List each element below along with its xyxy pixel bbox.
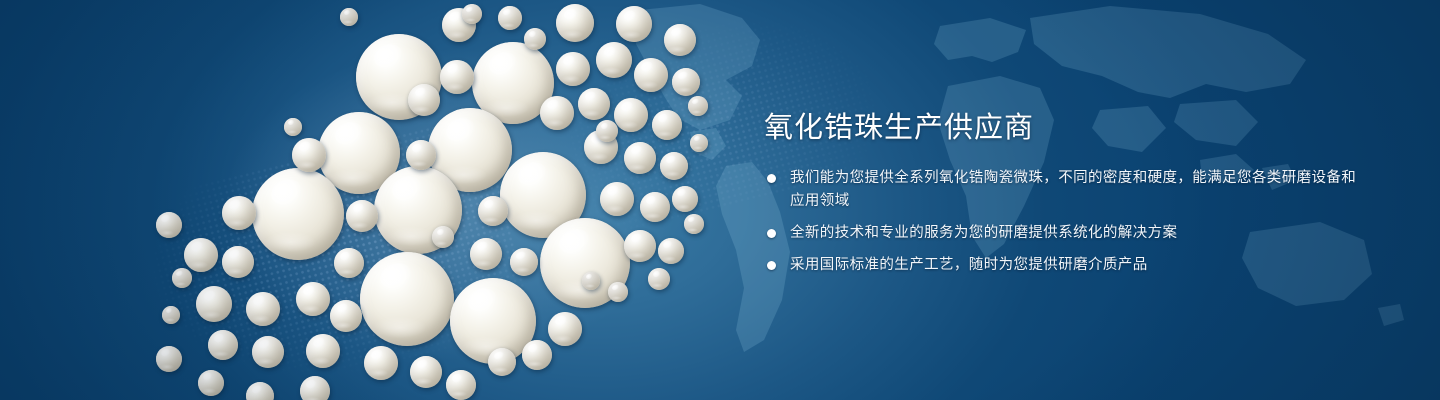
list-item-label: 采用国际标准的生产工艺，随时为您提供研磨介质产品 (790, 254, 1364, 277)
list-item: 采用国际标准的生产工艺，随时为您提供研磨介质产品 (764, 254, 1364, 277)
bullet-dot-icon (767, 261, 776, 270)
list-item-label: 我们能为您提供全系列氧化锆陶瓷微珠，不同的密度和硬度，能满足您各类研磨设备和应用… (790, 167, 1364, 213)
list-item-label: 全新的技术和专业的服务为您的研磨提供系统化的解决方案 (790, 222, 1364, 245)
bullet-dot-icon (767, 174, 776, 183)
hero-banner: 氧化锆珠生产供应商 我们能为您提供全系列氧化锆陶瓷微珠，不同的密度和硬度，能满足… (0, 0, 1440, 400)
page-title: 氧化锆珠生产供应商 (764, 108, 1364, 148)
feature-list: 我们能为您提供全系列氧化锆陶瓷微珠，不同的密度和硬度，能满足您各类研磨设备和应用… (764, 167, 1364, 277)
bullet-dot-icon (767, 229, 776, 238)
list-item: 我们能为您提供全系列氧化锆陶瓷微珠，不同的密度和硬度，能满足您各类研磨设备和应用… (764, 167, 1364, 213)
banner-copy-block: 氧化锆珠生产供应商 我们能为您提供全系列氧化锆陶瓷微珠，不同的密度和硬度，能满足… (764, 108, 1364, 277)
list-item: 全新的技术和专业的服务为您的研磨提供系统化的解决方案 (764, 222, 1364, 245)
